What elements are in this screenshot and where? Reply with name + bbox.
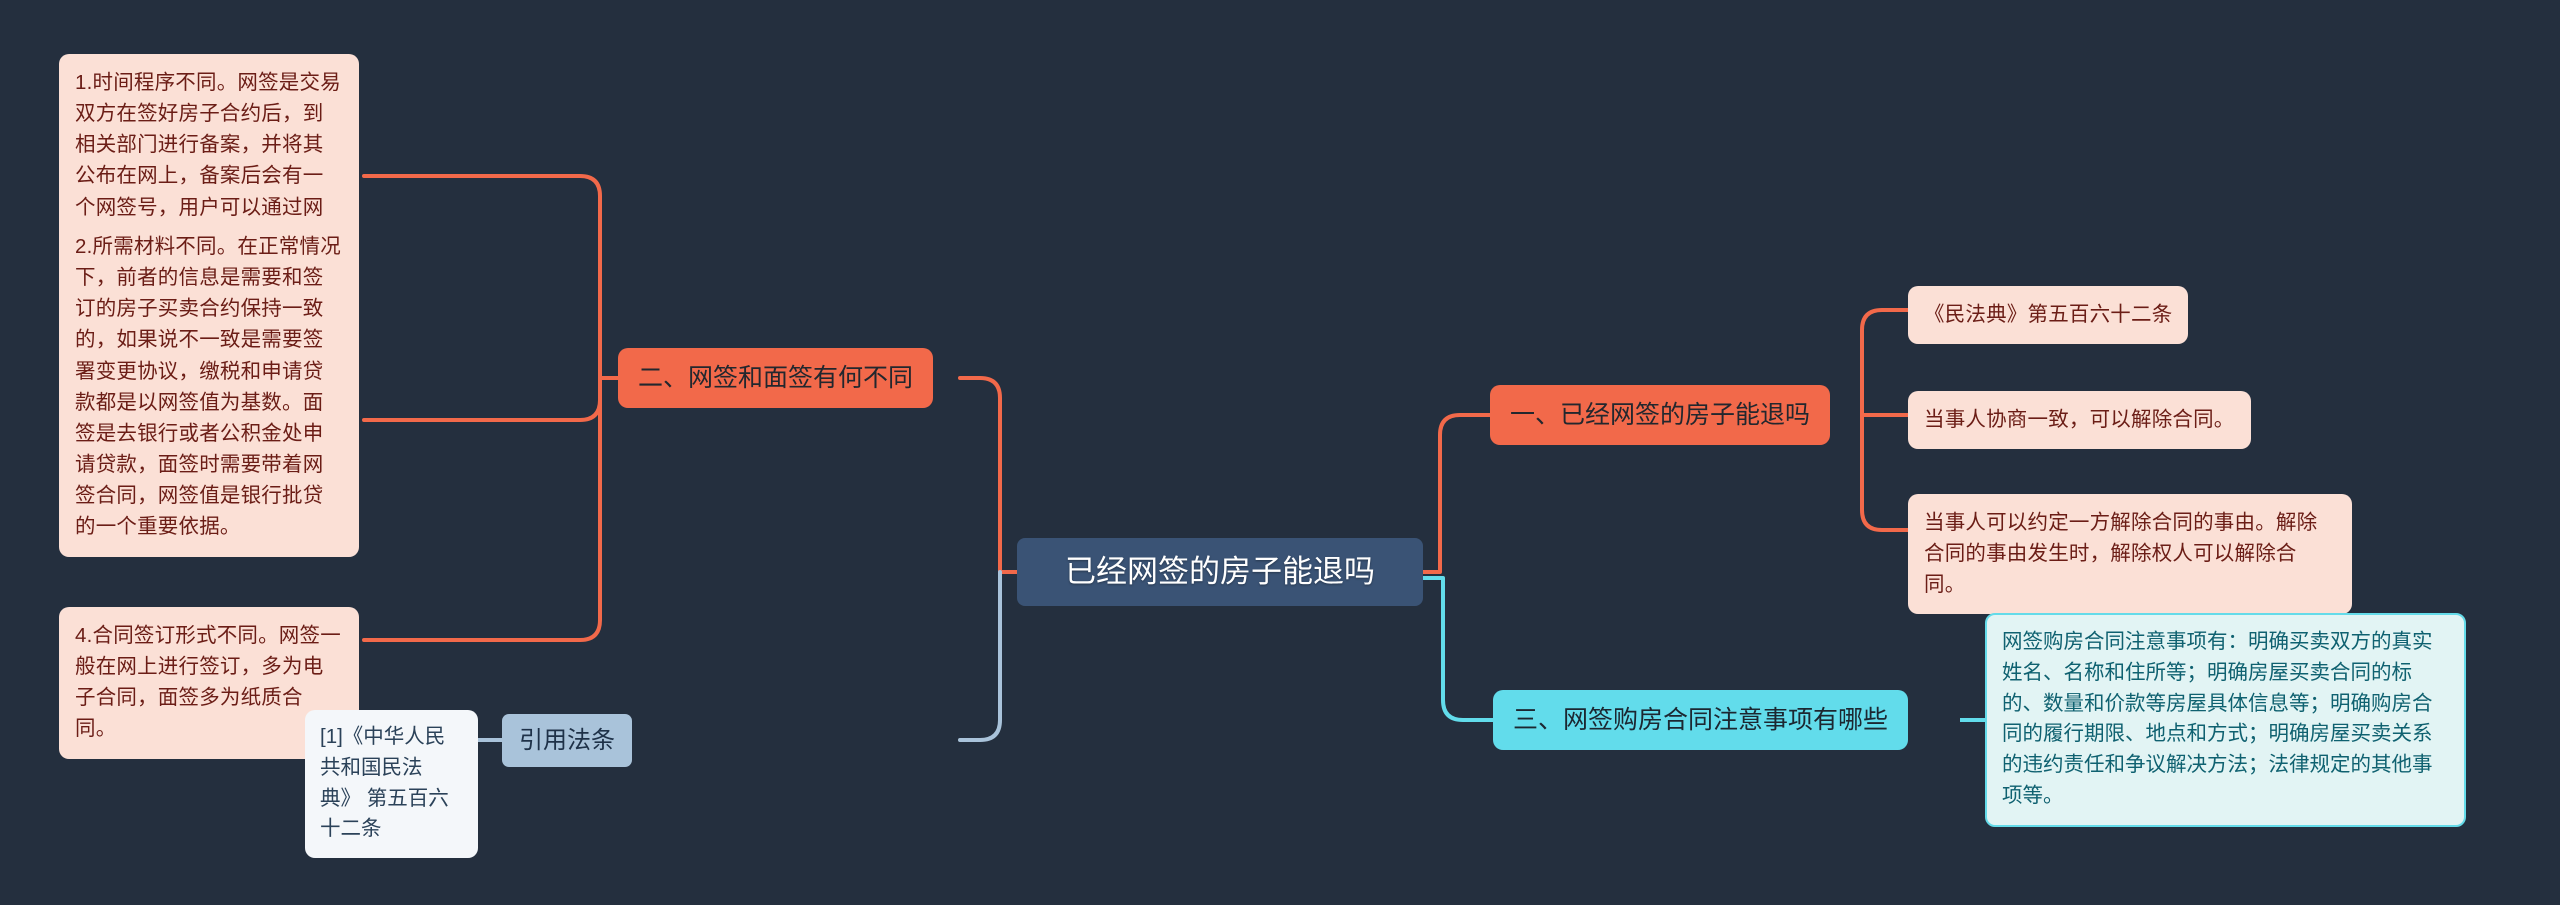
leaf-citation-1[interactable]: [1]《中华人民共和国民法典》 第五百六十二条 xyxy=(305,710,478,858)
root-node[interactable]: 已经网签的房子能退吗 xyxy=(1017,538,1423,606)
leaf-contract-form-text: 4.合同签订形式不同。网签一般在网上进行签订，多为电子合同，面签多为纸质合同。 xyxy=(75,624,341,740)
branch-citation-label: 引用法条 xyxy=(519,726,615,756)
leaf-materials-text: 2.所需材料不同。在正常情况下，前者的信息是需要和签订的房子买卖合约保持一致的，… xyxy=(75,235,341,538)
leaf-mutual-consent-text: 当事人协商一致，可以解除合同。 xyxy=(1924,408,2235,431)
branch-three-label: 三、网签购房合同注意事项有哪些 xyxy=(1513,704,1888,737)
branch-three[interactable]: 三、网签购房合同注意事项有哪些 xyxy=(1493,690,1908,750)
leaf-code-562[interactable]: 《民法典》第五百六十二条 xyxy=(1908,286,2188,344)
mindmap-canvas: 1.时间程序不同。网签是交易双方在签好房子合约后，到相关部门进行备案，并将其公布… xyxy=(0,0,2560,905)
leaf-contract-notes[interactable]: 网签购房合同注意事项有：明确买卖双方的真实姓名、名称和住所等；明确房屋买卖合同的… xyxy=(1985,613,2466,827)
leaf-agreed-grounds-text: 当事人可以约定一方解除合同的事由。解除合同的事由发生时，解除权人可以解除合同。 xyxy=(1924,511,2317,596)
leaf-mutual-consent[interactable]: 当事人协商一致，可以解除合同。 xyxy=(1908,391,2251,449)
leaf-code-562-text: 《民法典》第五百六十二条 xyxy=(1924,303,2172,326)
leaf-contract-notes-text: 网签购房合同注意事项有：明确买卖双方的真实姓名、名称和住所等；明确房屋买卖合同的… xyxy=(2002,630,2433,807)
leaf-materials[interactable]: 2.所需材料不同。在正常情况下，前者的信息是需要和签订的房子买卖合约保持一致的，… xyxy=(59,218,359,557)
branch-two-label: 二、网签和面签有何不同 xyxy=(638,362,913,395)
root-node-label: 已经网签的房子能退吗 xyxy=(1065,553,1375,592)
branch-one[interactable]: 一、已经网签的房子能退吗 xyxy=(1490,385,1830,445)
leaf-citation-1-text: [1]《中华人民共和国民法典》 第五百六十二条 xyxy=(320,725,449,840)
branch-one-label: 一、已经网签的房子能退吗 xyxy=(1510,399,1810,432)
branch-two[interactable]: 二、网签和面签有何不同 xyxy=(618,348,933,408)
branch-citation[interactable]: 引用法条 xyxy=(502,714,632,767)
leaf-agreed-grounds[interactable]: 当事人可以约定一方解除合同的事由。解除合同的事由发生时，解除权人可以解除合同。 xyxy=(1908,494,2352,614)
